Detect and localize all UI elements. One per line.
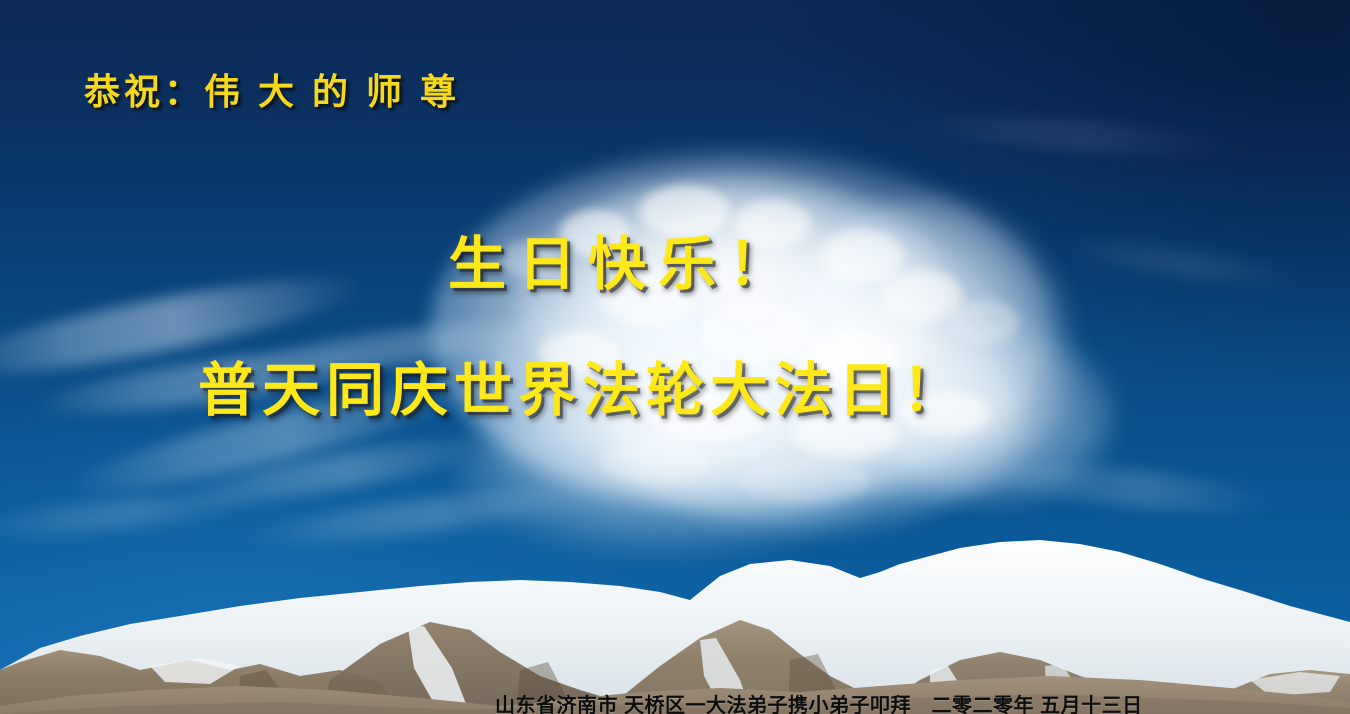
world-falun-dafa-day-text: 普天同庆世界法轮大法日！ [198, 362, 966, 420]
cloud-texture-speck [640, 185, 730, 237]
greeting-to-master-text: 恭祝：伟 大 的 师 尊 [84, 74, 460, 110]
mountain-silhouette-svg [0, 520, 1350, 714]
cloud-texture-speck [700, 300, 810, 362]
cloud-texture-speck [820, 230, 904, 284]
cloud-texture-speck [600, 440, 710, 484]
cirrus-wisp-9 [1049, 232, 1310, 294]
cloud-texture-speck [740, 460, 870, 502]
mountain-range [0, 520, 1350, 714]
cloud-texture-speck [880, 270, 962, 322]
signature-caption: 山东省济南市 天桥区一大法弟子携小弟子叩拜 二零二零年 五月十三日 [495, 689, 1143, 714]
happy-birthday-text: 生日快乐！ [448, 236, 798, 294]
cloud-texture-speck [950, 300, 1020, 344]
cirrus-wisp-10 [899, 108, 1240, 162]
greeting-card-image: 恭祝：伟 大 的 师 尊 生日快乐！ 普天同庆世界法轮大法日！ 山东省济南市 天… [0, 0, 1350, 714]
